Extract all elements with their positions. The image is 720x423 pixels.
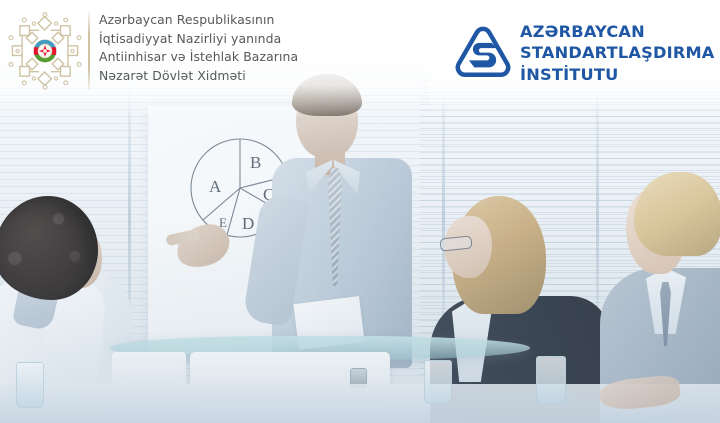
water-glass <box>424 360 452 404</box>
state-service-line-3: Antiinhisar və İstehlak Bazarına <box>99 48 349 67</box>
banner-header: Azərbaycan Respublikasının İqtisadiyyat … <box>0 0 720 118</box>
standardization-institute-title: AZƏRBAYCAN STANDARTLAŞDIRMA İNSTİTUTU <box>520 21 715 85</box>
azerbaijan-state-ornament-emblem-icon <box>8 12 82 90</box>
water-glass <box>536 356 566 404</box>
std-line-3: İNSTİTUTU <box>520 64 715 85</box>
state-service-line-1: Azərbaycan Respublikasının <box>99 11 349 30</box>
pie-label-d: D <box>242 214 254 233</box>
person-man-right-hair <box>634 172 720 256</box>
standardization-institute-logo: AZƏRBAYCAN STANDARTLAŞDIRMA İNSTİTUTU <box>452 18 714 92</box>
azerbaijan-standardization-institute-triangle-icon <box>452 24 514 86</box>
std-line-1: AZƏRBAYCAN <box>520 21 715 42</box>
organization-header-banner: A B C D E <box>0 0 720 423</box>
state-service-line-4: Nəzarət Dövlət Xidməti <box>99 67 349 86</box>
state-service-line-2: İqtisadiyyat Nazirliyi yanında <box>99 30 349 49</box>
person-woman-left-hair <box>0 196 98 300</box>
water-glass <box>16 362 44 408</box>
state-service-title: Azərbaycan Respublikasının İqtisadiyyat … <box>99 11 349 85</box>
pie-label-b: B <box>250 153 261 172</box>
std-line-2: STANDARTLAŞDIRMA <box>520 42 715 63</box>
pie-label-a: A <box>209 177 222 196</box>
header-divider <box>88 12 90 90</box>
